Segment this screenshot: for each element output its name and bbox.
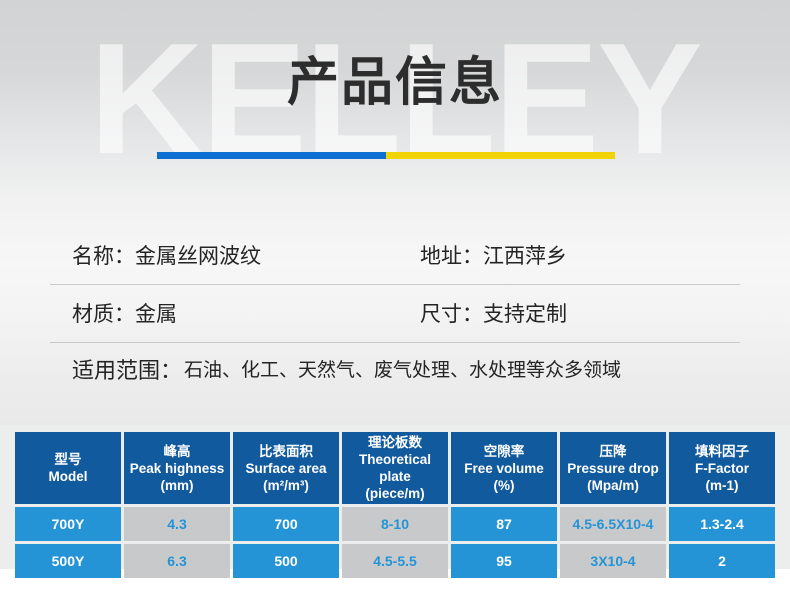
column-header-pressure-drop: 压降 Pressure drop (Mpa/m) <box>560 432 666 504</box>
column-header-en: Free volume <box>452 460 556 477</box>
spec-name: 名称：金属丝网波纹 <box>72 243 261 271</box>
column-header-zh: 压降 <box>561 443 665 460</box>
column-header-model: 型号 Model <box>15 432 121 504</box>
cell-f-factor: 2 <box>669 544 775 578</box>
table-row: 500Y 6.3 500 4.5-5.5 95 3X10-4 2 <box>15 544 775 578</box>
cell-peak-highness: 6.3 <box>124 544 230 578</box>
spec-row: 名称：金属丝网波纹 地址：江西萍乡 <box>0 228 790 286</box>
accent-segment-blue <box>157 152 386 159</box>
spec-address: 地址：江西萍乡 <box>420 243 567 271</box>
column-header-zh: 填料因子 <box>670 443 774 460</box>
product-info-page: KELLEY 产品信息 名称：金属丝网波纹 地址：江西萍乡 材质：金属 尺寸：支… <box>0 0 790 594</box>
cell-free-volume: 95 <box>451 544 557 578</box>
cell-surface-area: 700 <box>233 507 339 541</box>
cell-f-factor: 1.3-2.4 <box>669 507 775 541</box>
spec-list: 名称：金属丝网波纹 地址：江西萍乡 材质：金属 尺寸：支持定制 适用范围： 石油… <box>0 228 790 344</box>
spec-scope-value: 石油、化工、天然气、废气处理、水处理等众多领域 <box>182 356 621 386</box>
cell-peak-highness: 4.3 <box>124 507 230 541</box>
column-header-zh: 峰高 <box>125 443 229 460</box>
column-header-en: Model <box>16 468 120 485</box>
column-header-zh: 空隙率 <box>452 443 556 460</box>
spec-divider <box>50 342 740 343</box>
column-header-unit: (Mpa/m) <box>561 477 665 494</box>
parameter-table: 型号 Model 峰高 Peak highness (mm) 比表面积 Surf… <box>12 429 778 581</box>
spec-scope-label: 适用范围： <box>72 356 182 386</box>
spec-size: 尺寸：支持定制 <box>420 301 567 329</box>
column-header-en: F-Factor <box>670 460 774 477</box>
spec-divider <box>50 284 740 285</box>
column-header-free-volume: 空隙率 Free volume (%) <box>451 432 557 504</box>
hero-banner: KELLEY 产品信息 名称：金属丝网波纹 地址：江西萍乡 材质：金属 尺寸：支… <box>0 0 790 425</box>
cell-free-volume: 87 <box>451 507 557 541</box>
spec-row: 材质：金属 尺寸：支持定制 <box>0 286 790 344</box>
table-header-row: 型号 Model 峰高 Peak highness (mm) 比表面积 Surf… <box>15 432 775 504</box>
column-header-unit: (%) <box>452 477 556 494</box>
cell-theoretical-plate: 4.5-5.5 <box>342 544 448 578</box>
column-header-en: Theoretical plate <box>343 451 447 485</box>
accent-segment-yellow <box>386 152 615 159</box>
column-header-zh: 理论板数 <box>343 434 447 451</box>
column-header-en: Pressure drop <box>561 460 665 477</box>
column-header-surface-area: 比表面积 Surface area (m²/m³) <box>233 432 339 504</box>
column-header-peak-highness: 峰高 Peak highness (mm) <box>124 432 230 504</box>
column-header-f-factor: 填料因子 F-Factor (m-1) <box>669 432 775 504</box>
column-header-unit: (m²/m³) <box>234 477 338 494</box>
cell-pressure-drop: 4.5-6.5X10-4 <box>560 507 666 541</box>
column-header-unit: (m-1) <box>670 477 774 494</box>
spec-scope: 适用范围： 石油、化工、天然气、废气处理、水处理等众多领域 <box>72 346 621 396</box>
cell-model: 700Y <box>15 507 121 541</box>
page-title: 产品信息 <box>0 52 790 114</box>
cell-model: 500Y <box>15 544 121 578</box>
cell-theoretical-plate: 8-10 <box>342 507 448 541</box>
cell-pressure-drop: 3X10-4 <box>560 544 666 578</box>
column-header-unit: (piece/m) <box>343 485 447 502</box>
column-header-zh: 比表面积 <box>234 443 338 460</box>
column-header-unit: (mm) <box>125 477 229 494</box>
column-header-en: Peak highness <box>125 460 229 477</box>
table-row: 700Y 4.3 700 8-10 87 4.5-6.5X10-4 1.3-2.… <box>15 507 775 541</box>
cell-surface-area: 500 <box>233 544 339 578</box>
column-header-en: Surface area <box>234 460 338 477</box>
accent-divider-bar <box>157 152 615 159</box>
column-header-zh: 型号 <box>16 451 120 468</box>
column-header-theoretical-plate: 理论板数 Theoretical plate (piece/m) <box>342 432 448 504</box>
parameter-table-section: 型号 Model 峰高 Peak highness (mm) 比表面积 Surf… <box>0 425 790 569</box>
spec-material: 材质：金属 <box>72 301 177 329</box>
